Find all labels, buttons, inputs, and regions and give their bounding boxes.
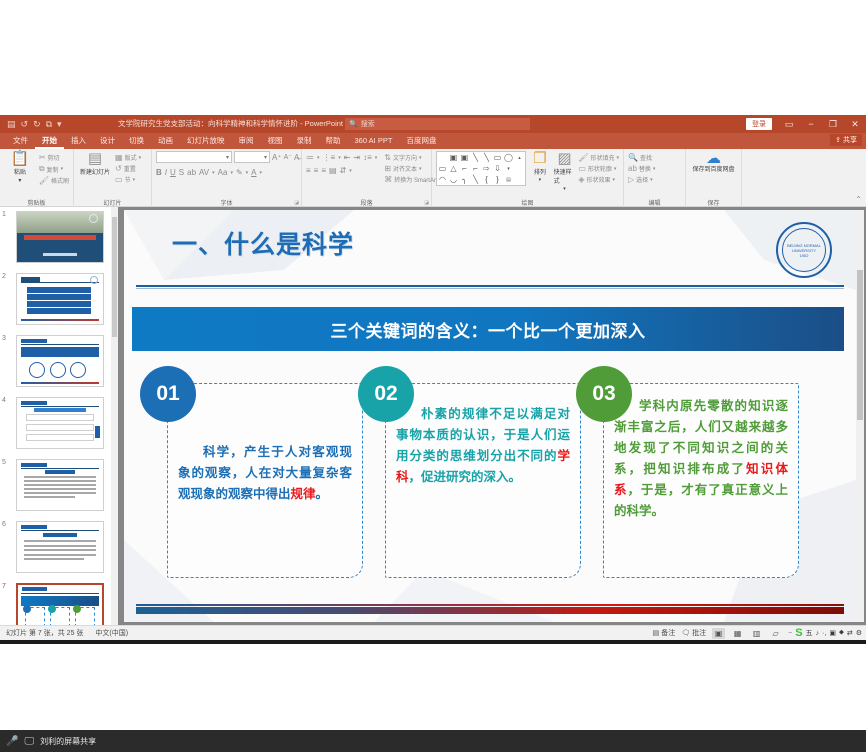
cloud-icon: ☁	[706, 151, 721, 166]
undo-icon[interactable]: ↺	[21, 120, 29, 129]
notes-label: 备注	[661, 628, 675, 638]
reset-label: 重置	[124, 164, 136, 173]
thumbnail-image	[16, 335, 104, 387]
screen: ▤ ↺ ↻ ⧉ ▾ 文学院研究生党支部活动：向科学精神和科学情怀进阶 - Pow…	[0, 0, 866, 752]
font-dialog-launcher[interactable]: ◪	[294, 200, 299, 206]
reset-button[interactable]: ↺ 重置	[115, 164, 141, 173]
thumbnail-slide-2[interactable]: 2	[16, 273, 108, 331]
shape-elbow-icon[interactable]: ╮	[462, 175, 467, 184]
ime-toolbar[interactable]: − S 五 ♪ ·, ▣ ⬥ ⇄ ⚙	[788, 627, 862, 639]
content-card-01[interactable]: 01 科学，产生于人对客观现象的观察，人在对大量复杂客观现象的观察中得出规律。	[167, 383, 363, 578]
share-label: 共享	[843, 135, 857, 145]
replace-icon: ab	[628, 164, 637, 173]
chevron-down-icon[interactable]: ▾	[226, 154, 229, 161]
paste-dropdown-icon[interactable]: ▾	[18, 177, 21, 184]
shape-oval-icon[interactable]: ◯	[504, 153, 513, 162]
tab-slideshow[interactable]: 幻灯片放映	[180, 133, 232, 149]
chevron-down-icon[interactable]: ▾	[317, 155, 320, 161]
sogou-logo-icon[interactable]: S	[795, 627, 802, 639]
slide-vertical-scrollbar[interactable]	[856, 210, 864, 622]
bullets-icon[interactable]: ≔	[306, 153, 314, 162]
comments-button[interactable]: 🗨 批注	[681, 628, 706, 638]
ime-settings-icon[interactable]: ⚙	[856, 629, 862, 637]
scissors-icon: ✂	[39, 153, 46, 162]
chevron-down-icon[interactable]: ▾	[212, 170, 215, 176]
thumbnail-number: 1	[2, 211, 6, 218]
tab-review[interactable]: 审阅	[232, 133, 261, 149]
slide-bottom-accent-thin	[136, 604, 844, 606]
ribbon-group-save: ☁ 保存到百度网盘 保存	[686, 149, 742, 207]
copy-label: 复制	[47, 165, 59, 174]
card-text-01: 科学，产生于人对客观现象的观察，人在对大量复杂客观现象的观察中得出规律。	[178, 442, 352, 567]
university-logo: BEIJING NORMAL UNIVERSITY 1902	[776, 222, 832, 278]
underline-button[interactable]: U	[170, 168, 176, 177]
save-icon[interactable]: ▤	[7, 120, 16, 129]
select-button[interactable]: ▷ 选择▾	[628, 175, 655, 184]
line-spacing-icon[interactable]: ↕≡	[363, 153, 372, 162]
group-label-paragraph: 段落	[302, 198, 431, 207]
smartart-icon: ⌘	[384, 175, 392, 184]
shapes-gallery[interactable]: ▣ ▣ ╲ ╲ ▭ ◯ ▴ ▭ △ ⌐ ⌐ ⇨ ⇩ ▾	[436, 151, 526, 186]
customize-qat-icon[interactable]: ▾	[57, 120, 62, 129]
ribbon-group-drawing: ▣ ▣ ╲ ╲ ▭ ◯ ▴ ▭ △ ⌐ ⌐ ⇨ ⇩ ▾	[432, 149, 624, 207]
chevron-down-icon[interactable]: ▾	[616, 155, 619, 161]
copy-icon: ⧉	[39, 164, 45, 174]
cut-button[interactable]: ✂ 剪切	[39, 153, 69, 162]
cards-container: 01 科学，产生于人对客观现象的观察，人在对大量复杂客观现象的观察中得出规律。 …	[132, 365, 844, 580]
select-label: 选择	[636, 175, 648, 184]
find-label: 查找	[640, 153, 652, 162]
thumbnail-slide-1[interactable]: 1	[16, 211, 108, 269]
shape-outline-label: 形状轮廓	[588, 164, 612, 173]
clear-formatting-icon[interactable]: A̶	[294, 153, 299, 162]
ribbon-display-options-icon[interactable]: ▭	[778, 115, 800, 133]
signin-button[interactable]: 登录	[746, 118, 772, 130]
slide-canvas[interactable]: 一、什么是科学 BEIJING NORMAL UNIVERSITY 1902 三…	[124, 210, 856, 622]
shape-triangle-icon[interactable]: △	[450, 164, 456, 173]
chevron-down-icon[interactable]: ▾	[61, 166, 64, 172]
thumbnail-number: 4	[2, 397, 6, 404]
slideshow-view-button[interactable]: ▱	[769, 628, 782, 639]
content-card-02[interactable]: 02 朴素的规律不足以满足对事物本质的认识，于是人们运用分类的思维划分出不同的学…	[385, 383, 581, 578]
chevron-down-icon[interactable]: ▾	[133, 177, 136, 183]
shape-arrow-icon[interactable]: ╲	[484, 153, 489, 162]
minimize-button[interactable]: −	[800, 115, 822, 133]
replace-button[interactable]: ab 替换▾	[628, 164, 655, 173]
new-slide-label: 新建幻灯片	[80, 167, 110, 176]
thumbnail-slide-7[interactable]: 7	[16, 583, 108, 625]
tab-animations[interactable]: 动画	[151, 133, 180, 149]
screen-share-label: 刘利的屏幕共享	[40, 736, 96, 747]
desktop-background-bottom	[0, 640, 866, 730]
quick-access-toolbar[interactable]: ▤ ↺ ↻ ⧉ ▾	[0, 120, 62, 129]
close-button[interactable]: ✕	[844, 115, 866, 133]
layout-button[interactable]: ▦ 版式 ▾	[115, 153, 141, 162]
ribbon-group-editing: 🔍 查找 ab 替换▾ ▷ 选择▾ 编辑	[624, 149, 686, 207]
chevron-down-icon[interactable]: ▾	[264, 154, 267, 161]
notes-icon: ▤	[653, 629, 660, 637]
shape-fill-icon: 🖌	[578, 153, 588, 162]
chevron-down-icon[interactable]: ▾	[375, 155, 378, 161]
tab-file[interactable]: 文件	[6, 133, 35, 149]
status-bar: 幻灯片 第 7 张，共 25 张 中文(中国) ▤ 备注 🗨 批注 ▣ ▦ ▥	[0, 625, 866, 640]
thumbnail-image	[16, 211, 104, 263]
ribbon-tabs: 文件 开始 插入 设计 切换 动画 幻灯片放映 审阅 视图 录制 帮助 360 …	[0, 133, 866, 149]
content-card-03[interactable]: 03 学科内原先零散的知识逐渐丰富之后，人们又越来越多地发现了不同知识之间的关系…	[603, 383, 799, 578]
font-color-icon[interactable]: A	[251, 168, 256, 177]
strikethrough-button[interactable]: ab	[187, 168, 196, 177]
thumbnail-image	[16, 273, 104, 325]
text-highlight-icon[interactable]: ✎	[236, 168, 243, 177]
thumbnail-number: 7	[2, 583, 6, 590]
main-editing-area: 1 2	[0, 207, 866, 640]
chevron-down-icon[interactable]: ▾	[563, 186, 566, 192]
logo-inner: BEIJING NORMAL UNIVERSITY 1902	[782, 228, 826, 272]
replace-label: 替换	[639, 164, 651, 173]
shapes-more-icon[interactable]: ▤	[506, 177, 511, 183]
ribbon-group-font: ▾ ▾ A⁺ A⁻ A̶ B I U S ab	[152, 149, 302, 207]
search-icon: 🔍	[628, 153, 638, 162]
ribbon: 📋 粘贴 ▾ ✂ 剪切 ⧉ 复制 ▾	[0, 149, 866, 207]
group-label-editing: 编辑	[624, 198, 685, 207]
title-underline	[136, 285, 844, 287]
paste-button[interactable]: 📋 粘贴 ▾	[4, 151, 36, 184]
title-underline-secondary	[136, 288, 844, 289]
shape-effects-button[interactable]: ◈ 形状效果▾	[578, 175, 619, 184]
search-icon: 🔍	[349, 120, 358, 128]
slide-scrollbar-thumb[interactable]	[857, 270, 863, 420]
window-controls: 登录 ▭ − ❐ ✕	[746, 115, 866, 133]
chevron-down-icon[interactable]: ▾	[139, 155, 142, 161]
tab-home[interactable]: 开始	[35, 133, 64, 149]
shapes-scroll-up-icon[interactable]: ▴	[518, 155, 521, 161]
thumbnail-image	[16, 397, 104, 449]
shape-effects-icon: ◈	[578, 175, 584, 184]
shape-fill-label: 形状填充	[590, 153, 614, 162]
screen-share-icon[interactable]: 🖵	[24, 736, 34, 747]
character-spacing-icon[interactable]: AV	[199, 168, 209, 177]
tab-help[interactable]: 帮助	[319, 133, 348, 149]
shape-curve-icon[interactable]: ◡	[450, 175, 457, 184]
comments-label: 批注	[692, 628, 706, 638]
tab-record[interactable]: 录制	[290, 133, 319, 149]
columns-icon[interactable]: ⇵	[340, 166, 347, 175]
banner-text: 三个关键词的含义：一个比一个更加深入	[331, 317, 646, 342]
search-placeholder: 搜索	[361, 119, 375, 129]
logo-year: 1902	[800, 253, 809, 258]
thumbnail-number: 5	[2, 459, 6, 466]
align-center-icon[interactable]: ≡	[314, 166, 319, 175]
shape-down-arrow-icon[interactable]: ⇩	[494, 164, 501, 173]
title-bar: ▤ ↺ ↻ ⧉ ▾ 文学院研究生党支部活动：向科学精神和科学情怀进阶 - Pow…	[0, 115, 866, 133]
thumbnail-number: 2	[2, 273, 6, 280]
shapes-scroll-down-icon[interactable]: ▾	[507, 166, 510, 172]
window-bottom-edge	[0, 640, 866, 644]
thumbnail-image-selected	[16, 583, 104, 625]
slide-counter: 幻灯片 第 7 张，共 25 张	[6, 628, 83, 638]
shape-fill-button[interactable]: 🖌 形状填充▾	[578, 153, 619, 162]
ime-collapse-icon[interactable]: −	[788, 630, 792, 637]
chevron-down-icon[interactable]: ▾	[260, 170, 263, 176]
share-button[interactable]: ⇪ 共享	[830, 134, 862, 146]
font-size-combo[interactable]: ▾	[234, 151, 270, 163]
slide-bottom-accent-thick	[136, 607, 844, 614]
section-label: 节	[125, 175, 131, 184]
save-to-baidu-netdisk-button[interactable]: ☁ 保存到百度网盘	[690, 151, 737, 174]
shape-right-arrow-icon[interactable]: ⇨	[483, 164, 490, 173]
shape-rect-blue2-icon[interactable]: ▣	[461, 153, 469, 162]
increase-indent-icon[interactable]: ⇥	[353, 153, 360, 162]
text-direction-label: 文字方向	[393, 153, 417, 162]
align-right-icon[interactable]: ≡	[321, 166, 326, 175]
cursor-icon: ▷	[628, 175, 634, 184]
shape-right-brace-icon[interactable]: }	[496, 175, 499, 184]
copy-button[interactable]: ⧉ 复制 ▾	[39, 164, 69, 174]
justify-icon[interactable]: ▤	[329, 166, 337, 175]
comment-icon: 🗨	[681, 629, 690, 637]
arrange-button[interactable]: ❐ 排列 ▾	[529, 151, 551, 183]
shape-rect-blue-icon[interactable]: ▣	[450, 153, 458, 162]
ribbon-group-slides: ▤ 新建幻灯片 ▦ 版式 ▾ ↺ 重置	[74, 149, 152, 207]
cut-label: 剪切	[48, 153, 60, 162]
layout-label: 版式	[125, 153, 137, 162]
reading-view-button[interactable]: ▥	[750, 628, 763, 639]
shape-arc-icon[interactable]: ◠	[439, 175, 446, 184]
italic-button[interactable]: I	[165, 168, 167, 177]
brush-icon: 🖌	[39, 176, 49, 185]
card-highlight-01: 规律	[291, 487, 316, 501]
ime-switch-icon[interactable]: ⇄	[847, 629, 853, 637]
powerpoint-window: ▤ ↺ ↻ ⧉ ▾ 文学院研究生党支部活动：向科学精神和科学情怀进阶 - Pow…	[0, 115, 866, 640]
shape-connector-icon[interactable]: ⌐	[462, 164, 467, 173]
slide-7[interactable]: 一、什么是科学 BEIJING NORMAL UNIVERSITY 1902 三…	[124, 210, 856, 622]
tab-view[interactable]: 视图	[261, 133, 290, 149]
numbering-icon[interactable]: ⋮≡	[323, 153, 336, 162]
tab-360-ai-ppt[interactable]: 360 AI PPT	[348, 133, 400, 149]
chevron-down-icon[interactable]: ▾	[230, 170, 233, 176]
share-icon: ⇪	[835, 136, 841, 144]
chevron-down-icon[interactable]: ▾	[349, 168, 352, 174]
thumbnail-slide-3[interactable]: 3	[16, 335, 108, 393]
chevron-down-icon[interactable]: ▾	[612, 177, 615, 183]
thumbnail-number: 6	[2, 521, 6, 528]
format-painter-label: 格式刷	[51, 176, 69, 185]
shape-rectangle-icon[interactable]: ▭	[494, 153, 502, 162]
card-text-03: 学科内原先零散的知识逐渐丰富之后，人们又越来越多地发现了不同知识之间的关系，把知…	[614, 396, 788, 567]
group-label-font: 字体	[152, 198, 301, 207]
decrease-font-size-icon[interactable]: A⁻	[284, 153, 292, 161]
language-indicator[interactable]: 中文(中国)	[95, 628, 128, 638]
microphone-icon[interactable]: 🎤	[6, 736, 18, 747]
new-slide-button[interactable]: ▤ 新建幻灯片	[78, 151, 112, 176]
search-input[interactable]: 🔍 搜索	[345, 118, 530, 130]
collapse-ribbon-icon[interactable]: ⌃	[855, 195, 862, 204]
chevron-down-icon[interactable]: ▾	[419, 166, 422, 172]
ime-mode-icon[interactable]: 五	[806, 628, 813, 638]
redo-icon[interactable]: ↻	[33, 120, 41, 129]
text-direction-icon: ⇅	[384, 153, 391, 162]
arrange-label: 排列	[534, 167, 546, 176]
tab-design[interactable]: 设计	[93, 133, 122, 149]
tab-transitions[interactable]: 切换	[122, 133, 151, 149]
quick-styles-icon: ▨	[557, 151, 571, 166]
screen-share-bar: 🎤 🖵 刘利的屏幕共享	[0, 730, 866, 752]
thumbnail-image	[16, 521, 104, 573]
paste-icon: 📋	[11, 151, 30, 166]
card-badge-01: 01	[140, 366, 196, 422]
align-left-icon[interactable]: ≡	[306, 166, 311, 175]
thumbnail-slide-6[interactable]: 6	[16, 521, 108, 579]
ribbon-group-clipboard: 📋 粘贴 ▾ ✂ 剪切 ⧉ 复制 ▾	[0, 149, 74, 207]
group-label-drawing: 绘图	[432, 198, 623, 207]
align-text-label: 对齐文本	[393, 164, 417, 173]
quick-styles-label: 快速样式	[554, 167, 576, 185]
group-label-clipboard: 剪贴板	[0, 198, 73, 207]
ribbon-group-paragraph: ≔▾ ⋮≡▾ ⇤ ⇥ ↕≡▾ ≡ ≡ ≡ ▤ ⇵▾	[302, 149, 432, 207]
shape-left-brace-icon[interactable]: {	[485, 175, 488, 184]
format-painter-button[interactable]: 🖌 格式刷	[39, 176, 69, 185]
chevron-down-icon[interactable]: ▾	[650, 177, 653, 183]
reset-icon: ↺	[115, 164, 122, 173]
shape-outline-button[interactable]: ▭ 形状轮廓▾	[578, 164, 619, 173]
notes-button[interactable]: ▤ 备注	[653, 628, 676, 638]
find-button[interactable]: 🔍 查找	[628, 153, 655, 162]
section-banner[interactable]: 三个关键词的含义：一个比一个更加深入	[132, 307, 844, 351]
thumbnail-scrollbar[interactable]	[111, 207, 118, 625]
shape-line-icon[interactable]: ╲	[473, 153, 478, 162]
slide-sorter-view-button[interactable]: ▦	[731, 628, 744, 639]
chevron-down-icon[interactable]: ▾	[338, 155, 341, 161]
paragraph-dialog-launcher[interactable]: ◪	[424, 200, 429, 206]
shape-diagonal-icon[interactable]: ╲	[473, 175, 478, 184]
slide-thumbnail-pane[interactable]: 1 2	[0, 207, 118, 625]
thumbnail-slide-5[interactable]: 5	[16, 459, 108, 517]
ime-keyboard-icon[interactable]: ▣	[829, 629, 836, 637]
ime-tone-icon[interactable]: ♪	[816, 630, 820, 637]
section-button[interactable]: ▭ 节 ▾	[115, 175, 141, 184]
thumbnail-slide-4[interactable]: 4	[16, 397, 108, 455]
ime-toolbox-icon[interactable]: ⬥	[839, 629, 844, 637]
thumbnail-scrollbar-thumb[interactable]	[112, 217, 117, 337]
align-text-icon: ⊞	[384, 164, 391, 173]
thumbnail-image	[16, 459, 104, 511]
tab-baidu-netdisk[interactable]: 百度网盘	[399, 133, 443, 149]
decrease-indent-icon[interactable]: ⇤	[344, 153, 351, 162]
shape-connector2-icon[interactable]: ⌐	[473, 164, 478, 173]
chevron-down-icon[interactable]: ▾	[539, 177, 542, 183]
chevron-down-icon[interactable]: ▾	[419, 155, 422, 161]
shape-effects-label: 形状效果	[586, 175, 610, 184]
group-label-save: 保存	[686, 198, 741, 207]
chevron-down-icon[interactable]: ▾	[614, 166, 617, 172]
chevron-down-icon[interactable]: ▾	[653, 166, 656, 172]
arrange-icon: ❐	[533, 151, 546, 166]
increase-font-size-icon[interactable]: A⁺	[272, 153, 282, 162]
start-slideshow-icon[interactable]: ⧉	[46, 120, 52, 129]
save-to-baidu-label: 保存到百度网盘	[692, 167, 734, 174]
change-case-icon[interactable]: Aa	[218, 168, 228, 177]
slide-title[interactable]: 一、什么是科学	[172, 225, 354, 261]
shape-outline-icon: ▭	[578, 164, 586, 173]
section-icon: ▭	[115, 175, 123, 184]
desktop-background-top	[0, 0, 866, 115]
paste-label: 粘贴	[14, 167, 26, 176]
window-title: 文学院研究生党支部活动：向科学精神和科学情怀进阶 - PowerPoint	[118, 115, 343, 133]
ime-punct-icon[interactable]: ·,	[822, 630, 826, 637]
restore-button[interactable]: ❐	[822, 115, 844, 133]
normal-view-button[interactable]: ▣	[712, 628, 725, 639]
shape-rectangle2-icon[interactable]: ▭	[439, 164, 447, 173]
thumbnail-number: 3	[2, 335, 6, 342]
chevron-down-icon[interactable]: ▾	[246, 170, 249, 176]
new-slide-icon: ▤	[88, 151, 102, 166]
bold-button[interactable]: B	[156, 168, 162, 177]
font-name-combo[interactable]: ▾	[156, 151, 232, 163]
group-label-slides: 幻灯片	[74, 198, 151, 207]
layout-icon: ▦	[115, 153, 123, 162]
card-text-02: 朴素的规律不足以满足对事物本质的认识，于是人们运用分类的思维划分出不同的学科，促…	[396, 404, 570, 567]
shadow-button[interactable]: S	[179, 168, 184, 177]
tab-insert[interactable]: 插入	[64, 133, 93, 149]
quick-styles-button[interactable]: ▨ 快速样式 ▾	[554, 151, 576, 192]
